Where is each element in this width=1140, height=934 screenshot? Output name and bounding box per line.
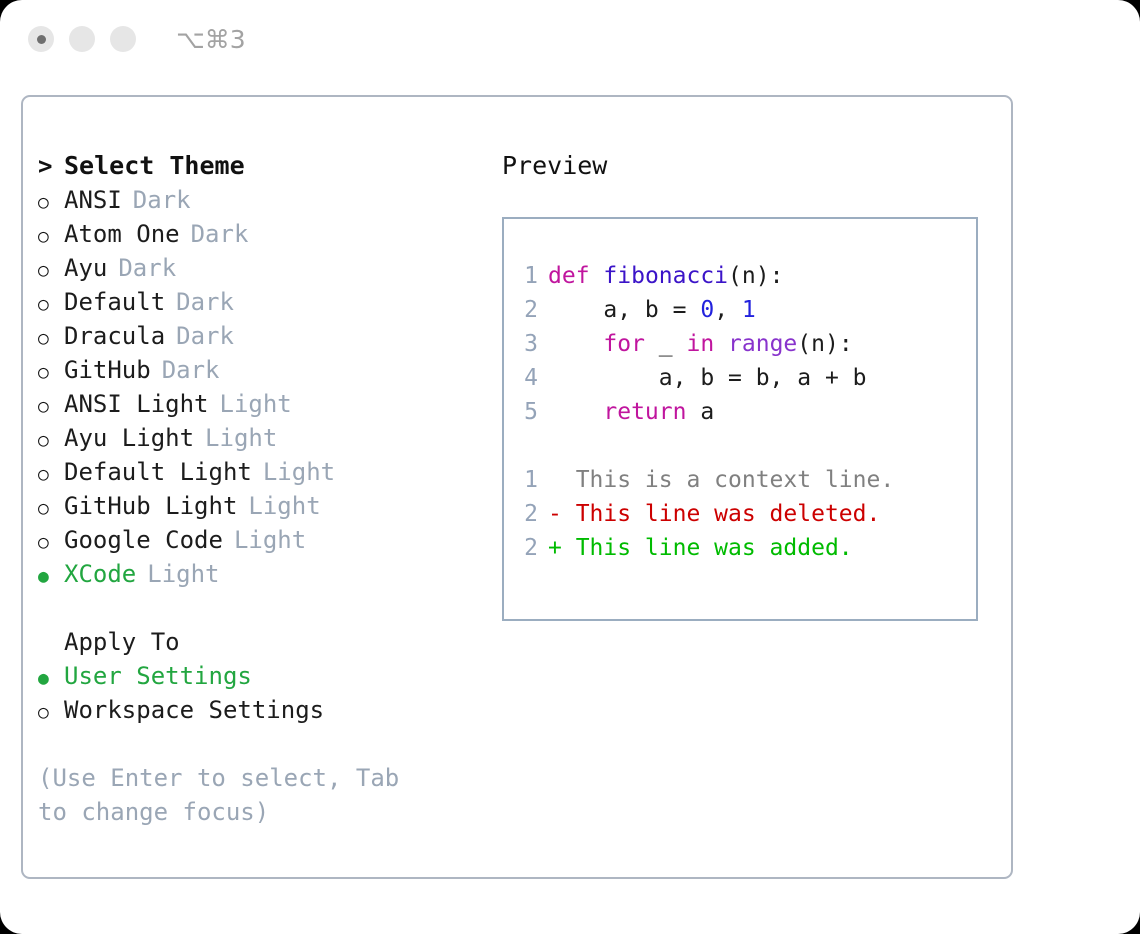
window-dot-3[interactable] — [110, 26, 136, 52]
line-number: 5 — [504, 395, 548, 429]
code-token: range — [728, 327, 797, 361]
window-titlebar: ⌥⌘3 — [0, 0, 1140, 78]
main-panel: > Select Theme ANSIDarkAtom OneDarkAyuDa… — [21, 95, 1013, 879]
theme-selector-column: > Select Theme ANSIDarkAtom OneDarkAyuDa… — [38, 149, 468, 829]
theme-kind-badge: Light — [263, 455, 335, 489]
code-line: 1def fibonacci(n): — [504, 259, 976, 293]
theme-name: Google Code — [64, 523, 223, 557]
code-token: in — [686, 327, 714, 361]
theme-kind-badge: Dark — [176, 319, 234, 353]
line-number: 2 — [504, 531, 548, 565]
code-token: a, b = — [548, 293, 700, 327]
preview-title: Preview — [502, 149, 992, 183]
code-diff-spacer — [504, 429, 976, 463]
code-token: fibonacci — [603, 259, 728, 293]
apply-to-option[interactable]: Workspace Settings — [38, 693, 468, 727]
code-sample: 1def fibonacci(n):2 a, b = 0, 13 for _ i… — [504, 259, 976, 429]
theme-list-item[interactable]: AyuDark — [38, 251, 468, 285]
keyboard-shortcut-label: ⌥⌘3 — [176, 25, 246, 54]
code-token: (n): — [797, 327, 852, 361]
theme-name: GitHub Light — [64, 489, 237, 523]
code-line: 4 a, b = b, a + b — [504, 361, 976, 395]
theme-name: Ayu Light — [64, 421, 194, 455]
page-title: Select Theme — [64, 149, 245, 183]
theme-kind-badge: Light — [147, 557, 219, 591]
theme-name: Dracula — [64, 319, 165, 353]
theme-name: Atom One — [64, 217, 180, 251]
radio-unselected-icon — [38, 319, 64, 356]
radio-selected-icon — [38, 557, 64, 594]
window-dot-2[interactable] — [69, 26, 95, 52]
theme-list-item[interactable]: Atom OneDark — [38, 217, 468, 251]
radio-unselected-icon — [38, 183, 64, 220]
radio-selected-icon — [38, 659, 64, 696]
code-token: (n): — [728, 259, 783, 293]
diff-line: 1 This is a context line. — [504, 463, 976, 497]
preview-box: 1def fibonacci(n):2 a, b = 0, 13 for _ i… — [502, 217, 978, 621]
theme-kind-badge: Light — [248, 489, 320, 523]
theme-list-item[interactable]: Google CodeLight — [38, 523, 468, 557]
theme-name: Ayu — [64, 251, 107, 285]
diff-sample: 1 This is a context line.2- This line wa… — [504, 463, 976, 565]
line-number: 2 — [504, 293, 548, 327]
radio-unselected-icon — [38, 353, 64, 390]
theme-name: ANSI Light — [64, 387, 209, 421]
theme-name: GitHub — [64, 353, 151, 387]
radio-unselected-icon — [38, 251, 64, 288]
apply-to-option-label: User Settings — [64, 659, 252, 693]
code-token — [548, 327, 603, 361]
diff-line: 2- This line was deleted. — [504, 497, 976, 531]
theme-list-item[interactable]: Default LightLight — [38, 455, 468, 489]
diff-line-text: This is a context line. — [548, 463, 894, 497]
radio-unselected-icon — [38, 387, 64, 424]
radio-unselected-icon — [38, 523, 64, 560]
cursor-arrow-icon: > — [38, 149, 64, 183]
apply-to-option[interactable]: User Settings — [38, 659, 468, 693]
theme-list-item[interactable]: ANSIDark — [38, 183, 468, 217]
radio-unselected-icon — [38, 421, 64, 458]
code-token: a, b = b, a + b — [548, 361, 867, 395]
code-token — [548, 395, 603, 429]
theme-list-item[interactable]: ANSI LightLight — [38, 387, 468, 421]
select-theme-heading-row: > Select Theme — [38, 149, 468, 183]
theme-kind-badge: Dark — [176, 285, 234, 319]
theme-list-item[interactable]: GitHubDark — [38, 353, 468, 387]
theme-list-item[interactable]: XCodeLight — [38, 557, 468, 591]
active-dot-inner — [37, 35, 46, 44]
theme-kind-badge: Dark — [162, 353, 220, 387]
line-number: 1 — [504, 259, 548, 293]
radio-unselected-icon — [38, 285, 64, 322]
code-token: return — [603, 395, 686, 429]
theme-kind-badge: Dark — [133, 183, 191, 217]
theme-list: ANSIDarkAtom OneDarkAyuDarkDefaultDarkDr… — [38, 183, 468, 591]
code-token: _ — [645, 327, 687, 361]
line-number: 2 — [504, 497, 548, 531]
code-token: def — [548, 259, 590, 293]
theme-kind-badge: Light — [234, 523, 306, 557]
code-token — [714, 327, 728, 361]
radio-unselected-icon — [38, 489, 64, 526]
theme-name: Default Light — [64, 455, 252, 489]
preview-column: Preview 1def fibonacci(n):2 a, b = 0, 13… — [502, 149, 992, 621]
apply-to-option-label: Workspace Settings — [64, 693, 324, 727]
code-line: 3 for _ in range(n): — [504, 327, 976, 361]
theme-list-item[interactable]: DraculaDark — [38, 319, 468, 353]
code-line: 5 return a — [504, 395, 976, 429]
apply-to-options: User SettingsWorkspace Settings — [38, 659, 468, 727]
radio-unselected-icon — [38, 693, 64, 730]
theme-kind-badge: Light — [220, 387, 292, 421]
theme-name: XCode — [64, 557, 136, 591]
theme-kind-badge: Dark — [118, 251, 176, 285]
code-line: 2 a, b = 0, 1 — [504, 293, 976, 327]
theme-list-item[interactable]: Ayu LightLight — [38, 421, 468, 455]
apply-to-heading-row: Apply To — [38, 625, 468, 659]
code-token — [590, 259, 604, 293]
line-number: 1 — [504, 463, 548, 497]
code-token: a — [686, 395, 714, 429]
line-number: 4 — [504, 361, 548, 395]
window-dot-active[interactable] — [28, 26, 54, 52]
theme-kind-badge: Light — [205, 421, 277, 455]
diff-line: 2+ This line was added. — [504, 531, 976, 565]
radio-unselected-icon — [38, 217, 64, 254]
code-token: , — [714, 293, 742, 327]
diff-line-text: + This line was added. — [548, 531, 853, 565]
line-number: 3 — [504, 327, 548, 361]
theme-name: Default — [64, 285, 165, 319]
apply-to-label: Apply To — [64, 625, 180, 659]
theme-list-item[interactable]: DefaultDark — [38, 285, 468, 319]
diff-line-text: - This line was deleted. — [548, 497, 880, 531]
code-token: for — [603, 327, 645, 361]
code-token: 1 — [742, 293, 756, 327]
code-token: 0 — [700, 293, 714, 327]
theme-kind-badge: Dark — [191, 217, 249, 251]
apply-to-block: Apply To User SettingsWorkspace Settings — [38, 625, 468, 727]
radio-unselected-icon — [38, 455, 64, 492]
theme-list-item[interactable]: GitHub LightLight — [38, 489, 468, 523]
app-window: ⌥⌘3 > Select Theme ANSIDarkAtom OneDarkA… — [0, 0, 1140, 934]
theme-name: ANSI — [64, 183, 122, 217]
keyboard-hint-text: (Use Enter to select, Tab to change focu… — [38, 761, 438, 829]
